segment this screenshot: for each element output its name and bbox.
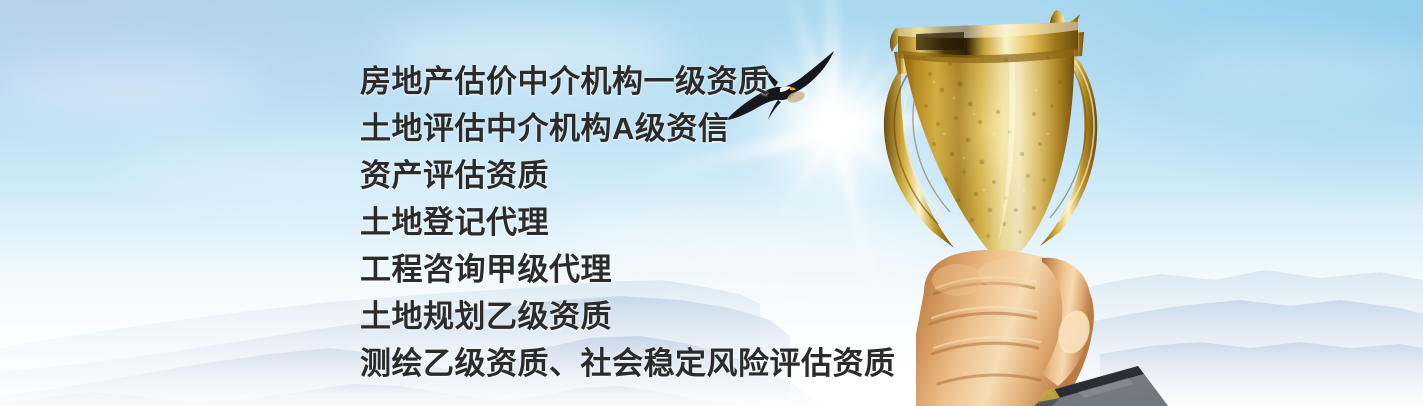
headline-line-5: 工程咨询甲级代理 (360, 246, 900, 293)
headline-line-3: 资产评估资质 (360, 152, 900, 199)
headline-line-1: 房地产估价中介机构一级资质 (360, 58, 900, 105)
headline-line-5-head: 工程咨询 (360, 252, 486, 287)
promo-banner: 房地产估价中介机构一级资质 土地评估中介机构A级资信 资产评估资质 土地登记代理… (0, 0, 1423, 406)
headline-line-6: 土地规划乙级资质 (360, 293, 900, 340)
headline-line-4: 土地登记代理 (360, 199, 900, 246)
gold-trophy-cup-icon (838, 0, 1288, 406)
headline-list: 房地产估价中介机构一级资质 土地评估中介机构A级资信 资产评估资质 土地登记代理… (360, 58, 900, 387)
headline-line-5-tail: 级代理 (518, 252, 613, 287)
headline-line-7: 测绘乙级资质、社会稳定风险评估资质 (360, 340, 900, 387)
headline-line-5-emphasis: 甲 (486, 252, 518, 287)
headline-line-2: 土地评估中介机构A级资信 (360, 105, 900, 152)
cloud-shape (0, 60, 260, 115)
